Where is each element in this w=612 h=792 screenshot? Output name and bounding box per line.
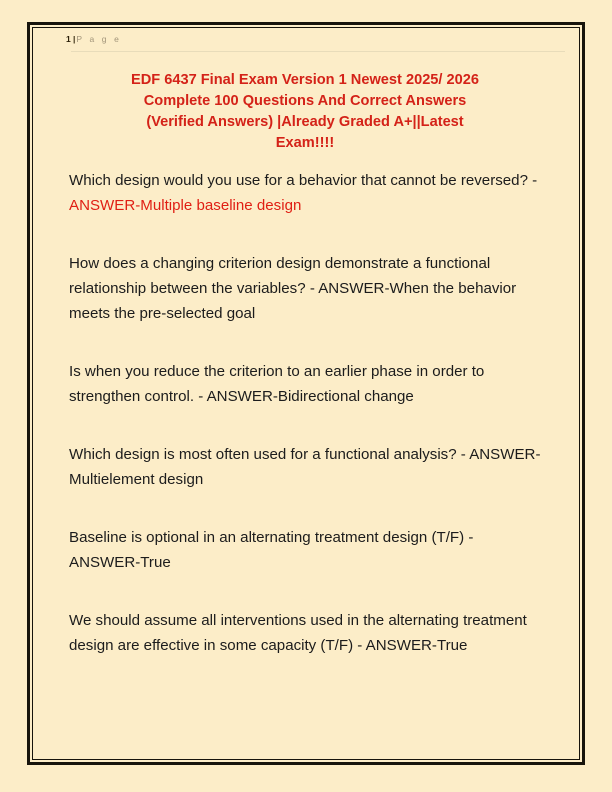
qa-question: Is when you reduce the criterion to an e… bbox=[69, 363, 484, 405]
title-line-4: Exam!!!! bbox=[75, 133, 535, 154]
qa-block: Baseline is optional in an alternating t… bbox=[69, 525, 541, 575]
qa-answer: ANSWER-Multiple baseline design bbox=[69, 197, 301, 214]
document-content: EDF 6437 Final Exam Version 1 Newest 202… bbox=[69, 70, 541, 658]
title-line-2: Complete 100 Questions And Correct Answe… bbox=[75, 91, 535, 112]
qa-question: We should assume all interventions used … bbox=[69, 612, 527, 654]
qa-question: Which design is most often used for a fu… bbox=[69, 446, 540, 488]
title-line-1: EDF 6437 Final Exam Version 1 Newest 202… bbox=[75, 70, 535, 91]
qa-question: How does a changing criterion design dem… bbox=[69, 255, 516, 322]
running-header: 1|P a g e bbox=[66, 33, 566, 51]
document-page: 1|P a g e EDF 6437 Final Exam Version 1 … bbox=[0, 0, 612, 792]
page-title: EDF 6437 Final Exam Version 1 Newest 202… bbox=[69, 70, 541, 154]
qa-question: Which design would you use for a behavio… bbox=[69, 172, 537, 189]
qa-block: We should assume all interventions used … bbox=[69, 608, 541, 658]
qa-block: Is when you reduce the criterion to an e… bbox=[69, 359, 541, 409]
qa-block: Which design would you use for a behavio… bbox=[69, 168, 541, 218]
qa-question: Baseline is optional in an alternating t… bbox=[69, 529, 473, 571]
qa-block: How does a changing criterion design dem… bbox=[69, 251, 541, 326]
qa-block: Which design is most often used for a fu… bbox=[69, 442, 541, 492]
header-page-number: 1 bbox=[66, 34, 71, 44]
header-page-label: P a g e bbox=[76, 34, 121, 44]
title-line-3: (Verified Answers) |Already Graded A+||L… bbox=[75, 112, 535, 133]
header-divider-rule bbox=[71, 51, 565, 52]
